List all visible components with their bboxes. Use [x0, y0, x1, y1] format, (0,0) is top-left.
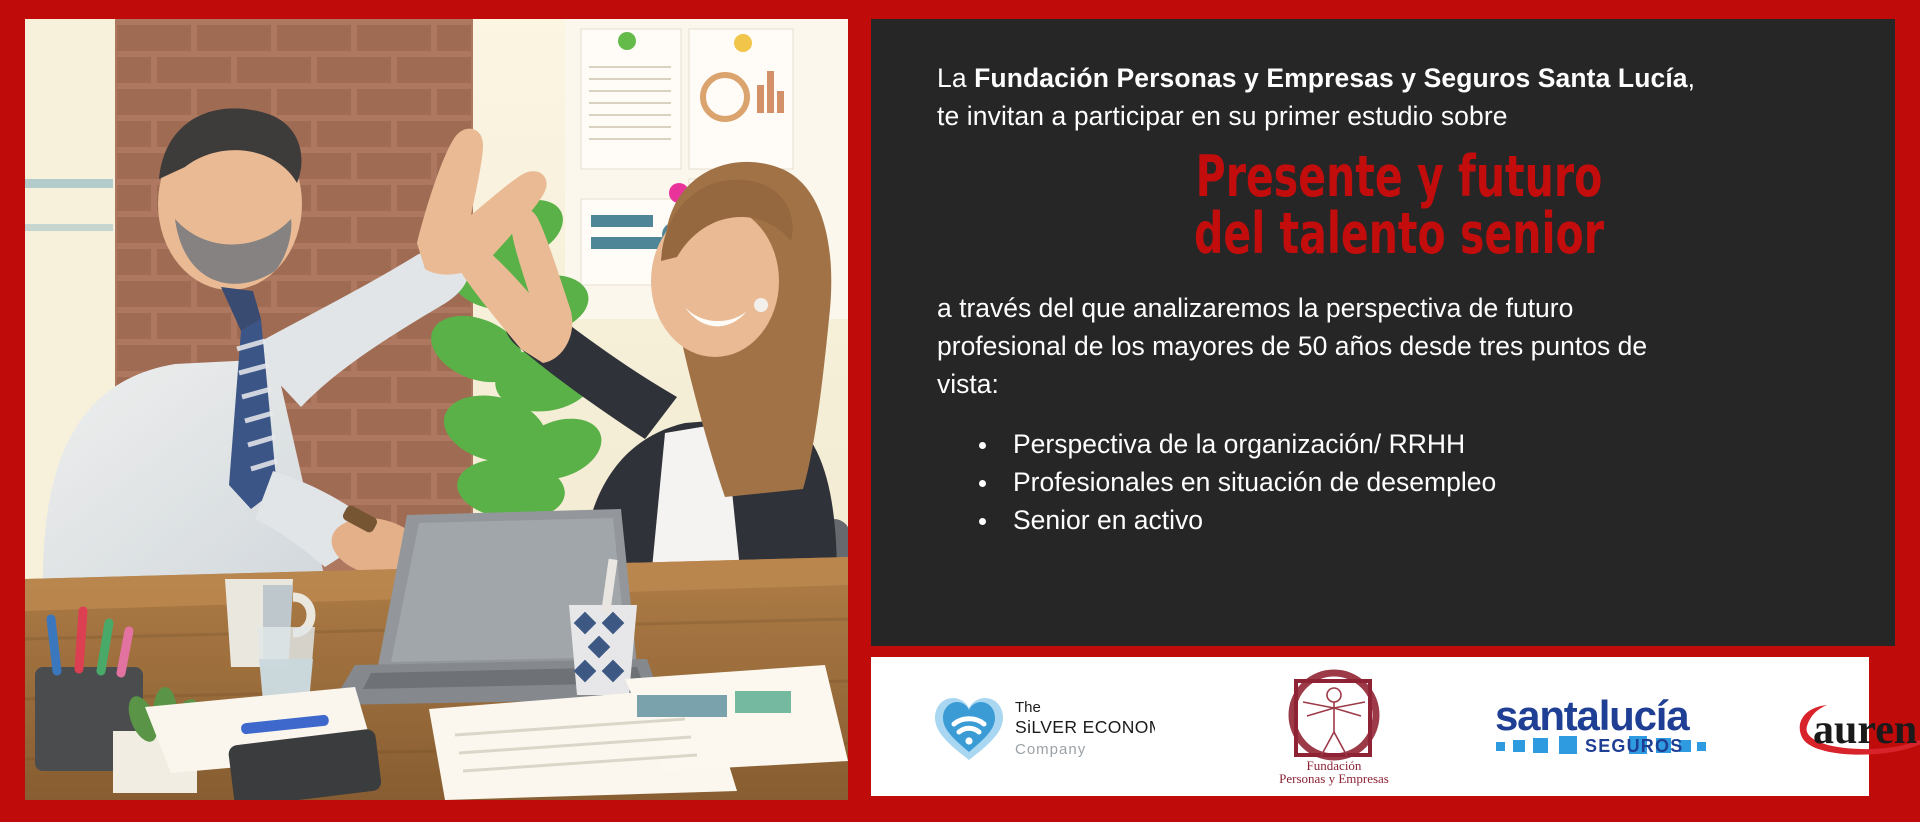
silver-logo-line3: Company — [1015, 741, 1086, 758]
logo-the-silver-economy-company: The SiLVER ECONOMY Company — [933, 690, 1155, 764]
sponsor-logo-bar: The SiLVER ECONOMY Company — [871, 657, 1869, 796]
santalucia-seguros-label: SEGUROS — [1585, 736, 1683, 756]
list-item: Profesionales en situación de desempleo — [979, 463, 1861, 501]
silver-logo-line2: SiLVER ECONOMY — [1015, 717, 1155, 737]
headline-line-1: Presente y futuro — [1029, 149, 1768, 206]
intro-text: La Fundación Personas y Empresas y Segur… — [937, 59, 1861, 135]
intro-bold: Fundación Personas y Empresas y Seguros … — [974, 63, 1687, 93]
message-panel: La Fundación Personas y Empresas y Segur… — [871, 19, 1895, 646]
silver-economy-logo: The SiLVER ECONOMY Company — [933, 690, 1155, 764]
list-item: Senior en activo — [979, 501, 1861, 539]
promo-banner: La Fundación Personas y Empresas y Segur… — [0, 0, 1920, 822]
fundacion-logo-line2: Personas y Empresas — [1279, 771, 1389, 786]
intro-prefix: La — [937, 63, 974, 93]
intro-suffix: , — [1688, 63, 1695, 93]
santalucia-logo: santalucía SEGUROS — [1493, 692, 1707, 762]
silver-logo-line1: The — [1015, 699, 1041, 716]
headline-line-2: del talento senior — [1029, 206, 1768, 263]
intro-line2: te invitan a participar en su primer est… — [937, 101, 1508, 131]
logo-santalucia-seguros: santalucía SEGUROS — [1493, 692, 1707, 762]
hero-photo-illustration — [25, 19, 848, 800]
vitruvian-man-icon — [1292, 673, 1376, 757]
hero-photo — [25, 19, 848, 800]
fundacion-logo: Fundación Personas y Empresas — [1263, 668, 1405, 786]
list-item: Perspectiva de la organización/ RRHH — [979, 425, 1861, 463]
logo-fundacion-personas-y-empresas: Fundación Personas y Empresas — [1263, 668, 1405, 786]
heart-wifi-icon — [935, 698, 1003, 760]
points-list: Perspectiva de la organización/ RRHH Pro… — [937, 425, 1861, 539]
auren-wordmark: auren — [1813, 707, 1917, 753]
logo-auren: auren — [1793, 696, 1920, 758]
description-paragraph: a través del que analizaremos la perspec… — [937, 289, 1697, 403]
auren-logo: auren — [1793, 696, 1920, 758]
santalucia-wordmark: santalucía — [1495, 692, 1690, 739]
headline: Presente y futuro del talento senior — [1029, 149, 1768, 263]
